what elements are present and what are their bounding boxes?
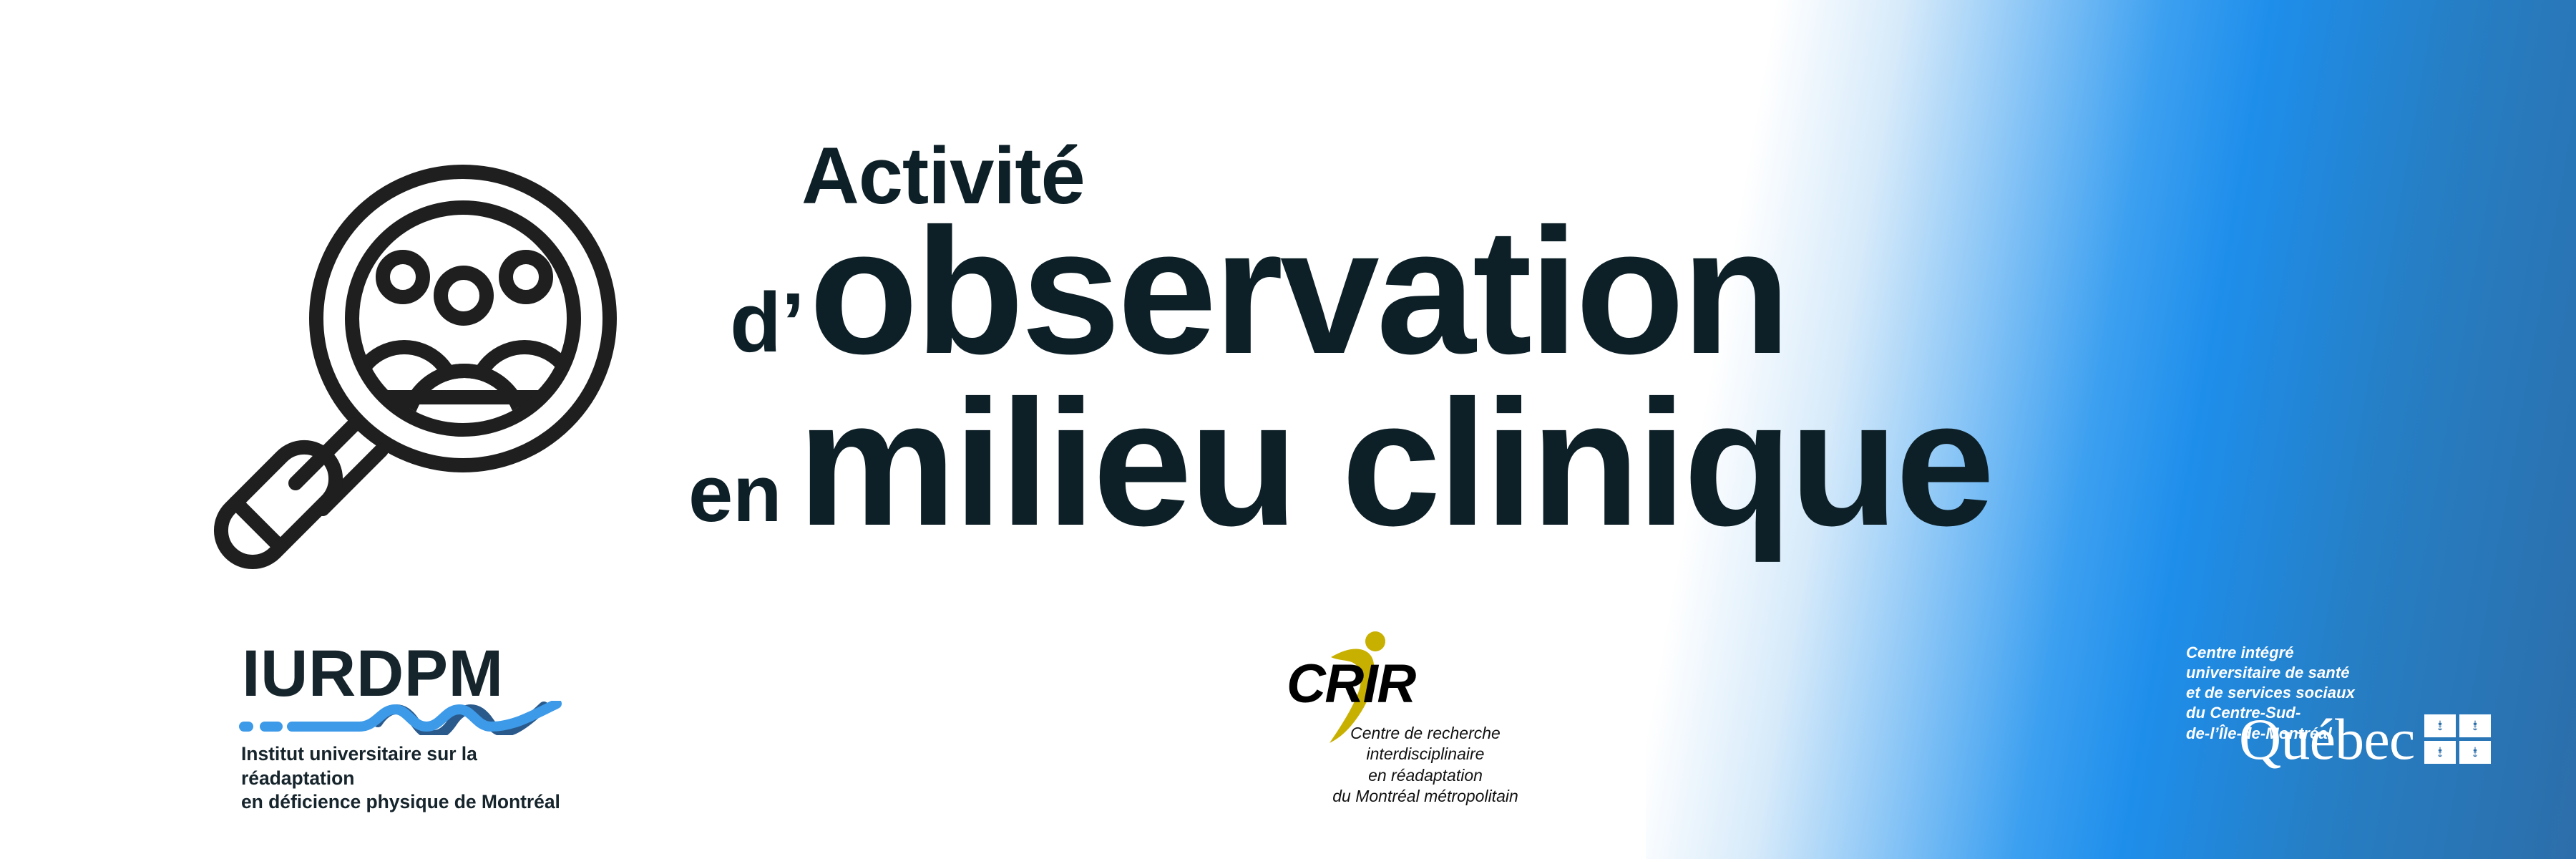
fleur-de-lis-cell [2424,714,2456,737]
logo-quebec-ciusss: Centre intégré universitaire de santé et… [2186,643,2508,786]
iurdpm-acronym: IURDPM [242,641,572,707]
banner-root: Activité d’ observation en milieu cliniq… [0,0,2576,859]
crir-tagline-line2: interdisciplinaire [1311,744,1540,765]
iurdpm-tagline-line1: Institut universitaire sur la réadaptati… [241,742,572,790]
magnifier-people-icon [140,111,626,576]
fleur-de-lis-cell [2459,714,2491,737]
title-words-milieu-clinique: milieu clinique [797,374,1991,553]
title-prefix-en: en [688,454,797,553]
fleur-de-lis-cell [2459,741,2491,764]
iurdpm-tagline: Institut universitaire sur la réadaptati… [241,742,572,815]
crir-tagline-line3: en réadaptation [1311,765,1540,786]
title-line-milieu-clinique: en milieu clinique [688,374,1991,553]
iurdpm-wave-graphic [236,701,572,735]
quebec-wordmark-row: Québec [2239,712,2491,767]
title-line-observation: d’ observation [730,202,1787,381]
quebec-wordmark: Québec [2239,712,2414,767]
quebec-flag-icon [2424,714,2491,764]
crir-tagline: Centre de recherche interdisciplinaire e… [1311,723,1540,807]
logo-crir: CRIR Centre de recherche interdisciplina… [1281,630,1538,802]
page-title: Activité d’ observation en milieu cliniq… [730,122,2376,580]
title-word-observation: observation [809,202,1788,381]
iurdpm-tagline-line2: en déficience physique de Montréal [241,790,572,815]
crir-acronym: CRIR [1287,657,1415,712]
fleur-de-lis-cell [2424,741,2456,764]
crir-tagline-line1: Centre de recherche [1311,723,1540,744]
crir-tagline-line4: du Montréal métropolitain [1311,786,1540,807]
logo-iurdpm: IURDPM Institut universitaire sur la réa… [236,641,572,795]
